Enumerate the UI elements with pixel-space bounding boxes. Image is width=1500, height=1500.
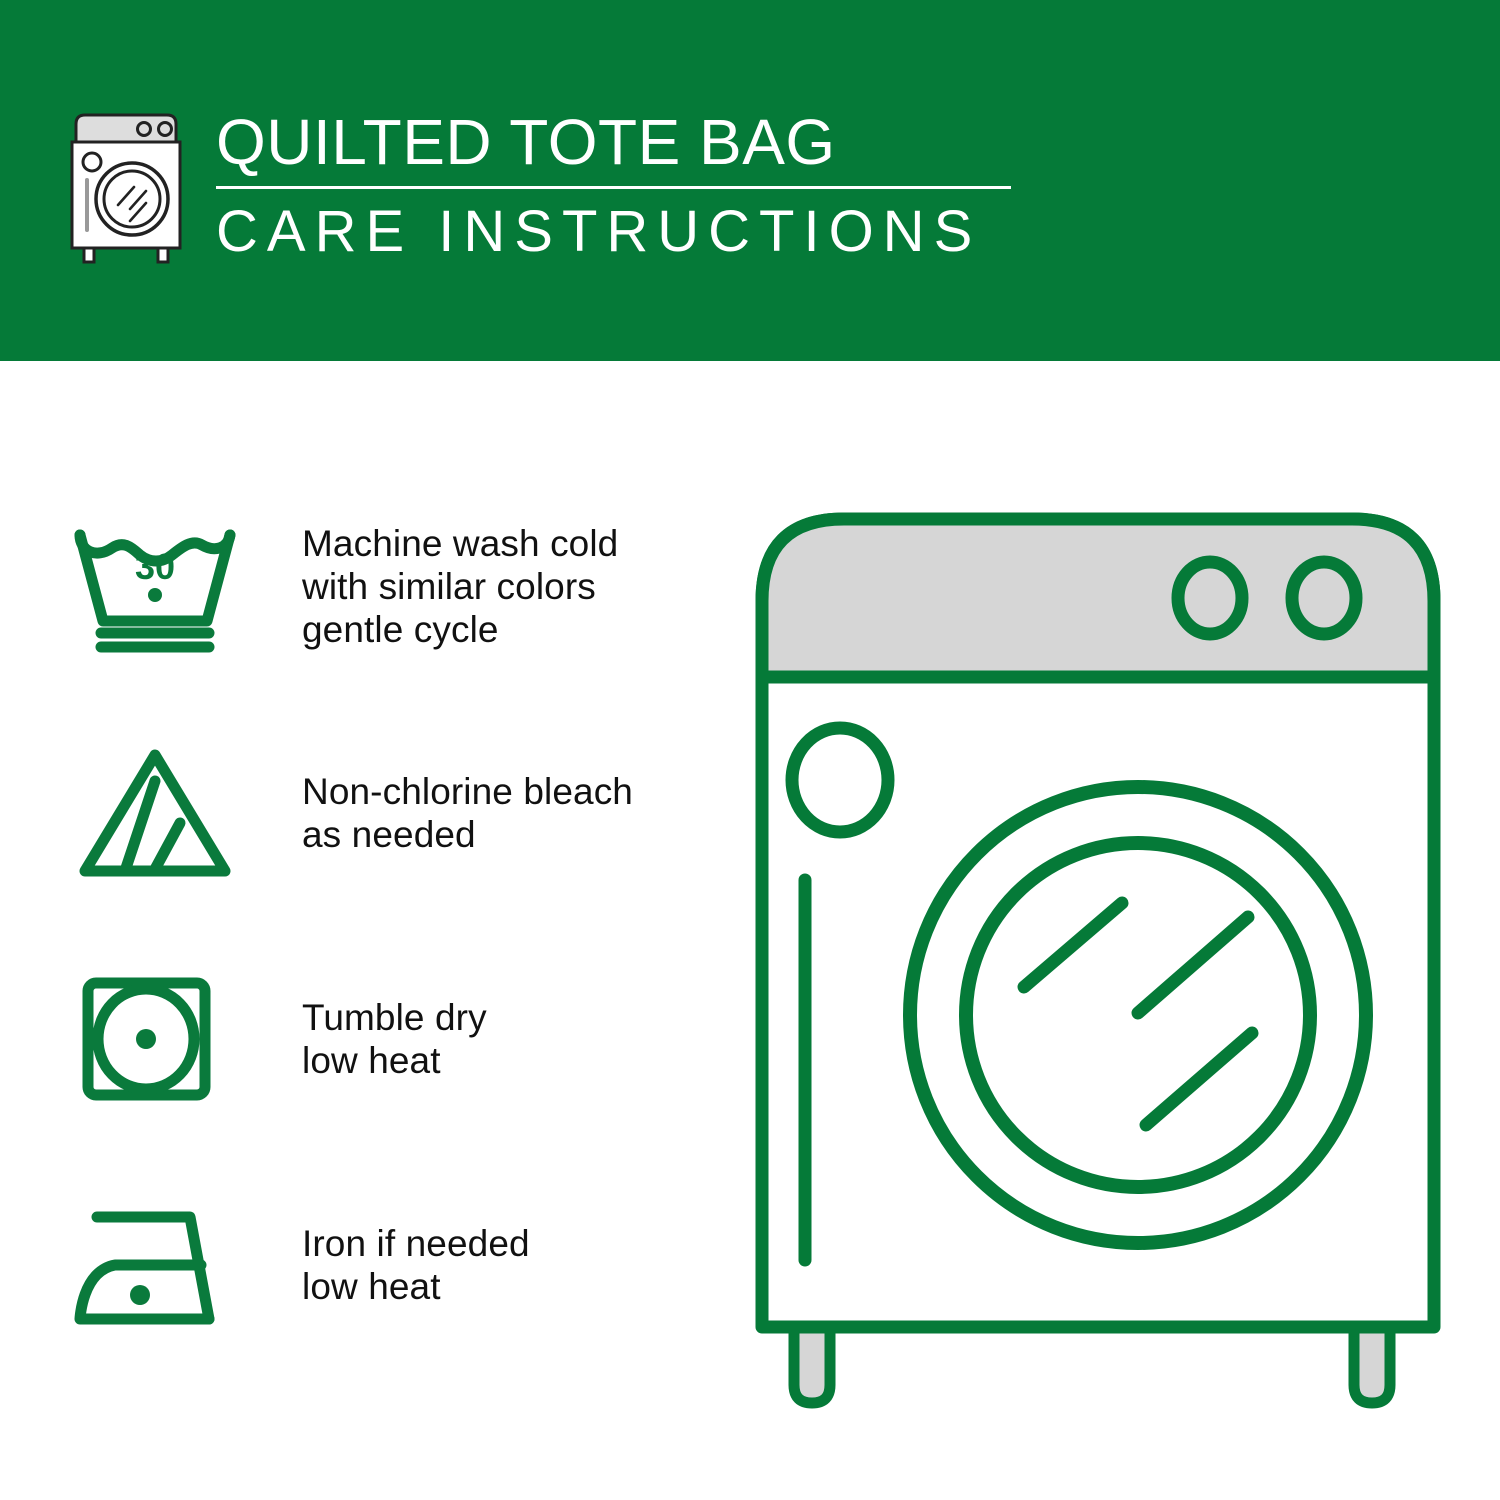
tumble-dry-icon <box>70 969 250 1109</box>
title-divider <box>216 186 1011 189</box>
header-text-block: QUILTED TOTE BAG CARE INSTRUCTIONS <box>216 104 1016 265</box>
front-load-washing-machine-illustration <box>748 505 1448 1435</box>
care-label-machine-wash: Machine wash cold with similar colors ge… <box>302 522 618 651</box>
iron-icon <box>70 1195 250 1335</box>
care-row-iron: Iron if needed low heat <box>70 1183 710 1346</box>
wash-temperature-value: 30 <box>135 546 175 587</box>
header-banner: QUILTED TOTE BAG CARE INSTRUCTIONS <box>0 0 1500 361</box>
page-subtitle: CARE INSTRUCTIONS <box>216 199 1016 265</box>
care-row-bleach: Non-chlorine bleach as needed <box>70 731 710 894</box>
wash-tub-30-icon: 30 <box>70 517 250 657</box>
care-label-iron: Iron if needed low heat <box>302 1222 530 1308</box>
care-row-machine-wash: 30 Machine wash cold with similar colors… <box>70 505 710 668</box>
care-row-tumble-dry: Tumble dry low heat <box>70 957 710 1120</box>
bleach-triangle-icon <box>70 743 250 883</box>
washer-control-panel <box>762 519 1434 677</box>
care-label-bleach: Non-chlorine bleach as needed <box>302 770 633 856</box>
washing-machine-icon <box>62 108 190 268</box>
care-label-tumble-dry: Tumble dry low heat <box>302 996 487 1082</box>
care-instructions-list: 30 Machine wash cold with similar colors… <box>70 505 710 1346</box>
page-title: QUILTED TOTE BAG <box>216 104 1016 180</box>
washer-legs <box>794 1325 1390 1403</box>
